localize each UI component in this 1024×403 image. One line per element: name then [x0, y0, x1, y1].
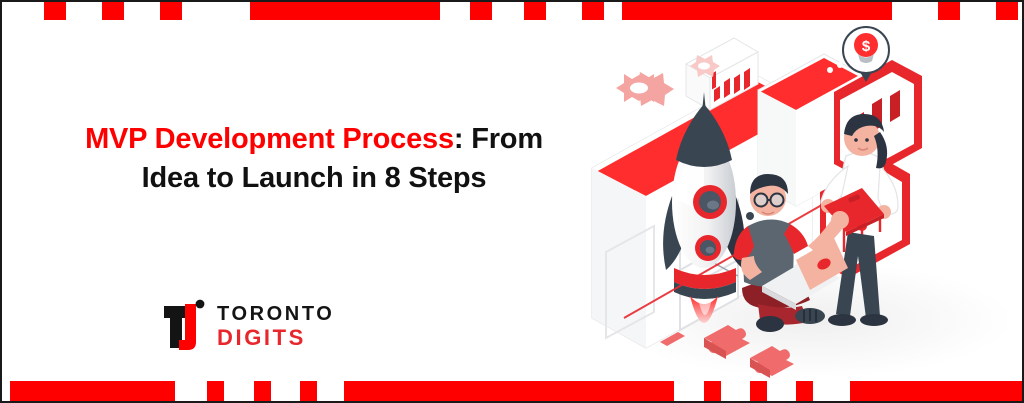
band-segment [300, 381, 317, 401]
bottom-dashed-band [2, 381, 1024, 401]
band-segment [160, 2, 182, 20]
brand-logo[interactable]: TORONTO DIGITS [162, 298, 334, 354]
band-segment [750, 381, 767, 401]
band-segment [10, 381, 175, 401]
band-segment [254, 381, 271, 401]
page-title-rest-line3: Steps [408, 162, 486, 194]
brand-logo-wordmark: TORONTO DIGITS [217, 304, 334, 349]
band-segment [582, 2, 604, 20]
band-segment [102, 2, 124, 20]
page-title-accent: MVP Development Process [85, 123, 454, 155]
band-segment [704, 381, 721, 401]
band-segment [470, 2, 492, 20]
page-title-colon: : [454, 123, 463, 155]
page-title: MVP Development Process: From Idea to La… [64, 120, 564, 197]
band-segment [250, 2, 440, 20]
band-segment [524, 2, 546, 20]
gear-large-icon [616, 72, 674, 106]
brand-logo-line-1: TORONTO [217, 304, 334, 324]
promo-banner: MVP Development Process: From Idea to La… [0, 0, 1024, 403]
brand-logo-line-2: DIGITS [217, 327, 334, 349]
band-segment [622, 2, 892, 20]
svg-text:$: $ [862, 38, 871, 55]
text-column: MVP Development Process: From Idea to La… [64, 120, 564, 197]
band-segment [344, 381, 674, 401]
top-dashed-band [2, 2, 1024, 20]
band-segment [796, 381, 813, 401]
band-segment [44, 2, 66, 20]
toronto-digits-monogram-icon [162, 298, 208, 354]
band-segment [207, 381, 224, 401]
band-segment [850, 381, 1024, 401]
band-segment [996, 2, 1018, 20]
band-segment [938, 2, 960, 20]
mvp-launch-isometric-illustration: $ [562, 20, 1024, 385]
